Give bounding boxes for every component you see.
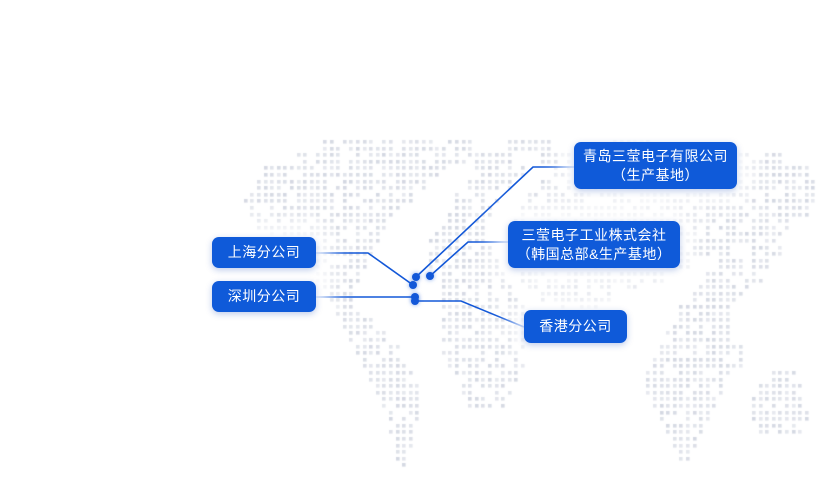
label-shenzhen-line1: 深圳分公司: [228, 287, 301, 305]
label-shanghai[interactable]: 上海分公司: [212, 237, 316, 268]
marker-qingdao[interactable]: [412, 273, 420, 281]
world-map-locations-infographic: 青岛三莹电子有限公司 （生产基地） 三莹电子工业株式会社 （韩国总部&生产基地）…: [0, 0, 824, 480]
connector-shanghai: [316, 253, 413, 285]
label-qingdao-line1: 青岛三莹电子有限公司: [583, 147, 728, 165]
connector-korea: [430, 242, 508, 276]
connector-lines: [0, 0, 824, 480]
marker-korea[interactable]: [426, 272, 434, 280]
label-korea[interactable]: 三莹电子工业株式会社 （韩国总部&生产基地）: [508, 221, 680, 268]
label-shanghai-line1: 上海分公司: [228, 243, 301, 261]
label-hongkong-line1: 香港分公司: [539, 317, 612, 335]
label-shenzhen[interactable]: 深圳分公司: [212, 281, 316, 312]
marker-hongkong[interactable]: [411, 297, 419, 305]
label-hongkong[interactable]: 香港分公司: [524, 310, 627, 343]
label-korea-line2: （韩国总部&生产基地）: [517, 245, 672, 263]
label-qingdao[interactable]: 青岛三莹电子有限公司 （生产基地）: [574, 142, 737, 189]
label-qingdao-line2: （生产基地）: [612, 166, 699, 184]
marker-shanghai[interactable]: [409, 281, 417, 289]
label-korea-line1: 三莹电子工业株式会社: [522, 226, 667, 244]
connector-hongkong: [415, 301, 524, 327]
